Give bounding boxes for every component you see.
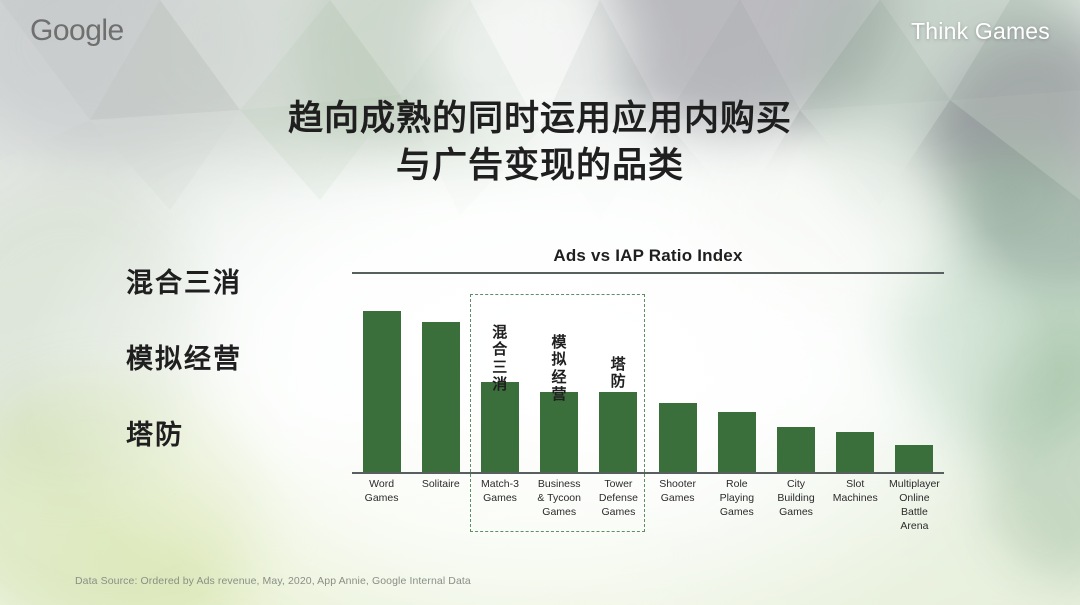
bar bbox=[836, 432, 874, 472]
bar-slot bbox=[766, 272, 825, 472]
bar-slot bbox=[826, 272, 885, 472]
ads-vs-iap-chart: Ads vs IAP Ratio Index 混合 三消模拟 经营塔防 Word… bbox=[352, 246, 944, 546]
page-title: 趋向成熟的同时运用应用内购买 与广告变现的品类 bbox=[0, 96, 1080, 190]
x-axis-label: Solitaire bbox=[411, 478, 470, 533]
chart-title: Ads vs IAP Ratio Index bbox=[352, 246, 944, 266]
side-label-item: 模拟经营 bbox=[0, 346, 330, 422]
bar bbox=[540, 392, 578, 473]
x-axis-label: Shooter Games bbox=[648, 478, 707, 533]
bar bbox=[718, 412, 756, 472]
x-axis-label: City Building Games bbox=[766, 478, 825, 533]
page-title-line-1: 趋向成熟的同时运用应用内购买 bbox=[0, 96, 1080, 143]
think-games-logo: Think Games bbox=[911, 18, 1050, 45]
bar-series bbox=[352, 272, 944, 472]
bar bbox=[659, 403, 697, 472]
side-label-item: 混合三消 bbox=[0, 270, 330, 346]
bar bbox=[777, 427, 815, 472]
page-title-line-2: 与广告变现的品类 bbox=[0, 143, 1080, 190]
chart-baseline-axis bbox=[352, 472, 944, 474]
x-axis-label: Business & Tycoon Games bbox=[530, 478, 589, 533]
bar-slot bbox=[352, 272, 411, 472]
x-axis-label: Match-3 Games bbox=[470, 478, 529, 533]
bar-slot bbox=[411, 272, 470, 472]
bar-slot bbox=[707, 272, 766, 472]
slide-canvas: Google Think Games 趋向成熟的同时运用应用内购买 与广告变现的… bbox=[0, 0, 1080, 605]
bar bbox=[422, 322, 460, 472]
bar-slot bbox=[589, 272, 648, 472]
bar-slot bbox=[470, 272, 529, 472]
x-axis-label: Word Games bbox=[352, 478, 411, 533]
bar bbox=[599, 392, 637, 473]
bar-slot bbox=[885, 272, 944, 472]
x-axis-label-row: Word GamesSolitaireMatch-3 GamesBusiness… bbox=[352, 478, 944, 533]
data-source-note: Data Source: Ordered by Ads revenue, May… bbox=[75, 575, 471, 587]
x-axis-label: Tower Defense Games bbox=[589, 478, 648, 533]
bar bbox=[481, 382, 519, 472]
x-axis-label: Multiplayer Online Battle Arena bbox=[885, 478, 944, 533]
bar-slot bbox=[648, 272, 707, 472]
bar-slot bbox=[530, 272, 589, 472]
bar bbox=[895, 445, 933, 472]
bar bbox=[363, 311, 401, 472]
side-label-item: 塔防 bbox=[0, 422, 330, 498]
x-axis-label: Slot Machines bbox=[826, 478, 885, 533]
side-label-list: 混合三消 模拟经营 塔防 bbox=[0, 270, 330, 498]
google-logo: Google bbox=[30, 14, 124, 48]
chart-plot-area bbox=[352, 272, 944, 472]
x-axis-label: Role Playing Games bbox=[707, 478, 766, 533]
